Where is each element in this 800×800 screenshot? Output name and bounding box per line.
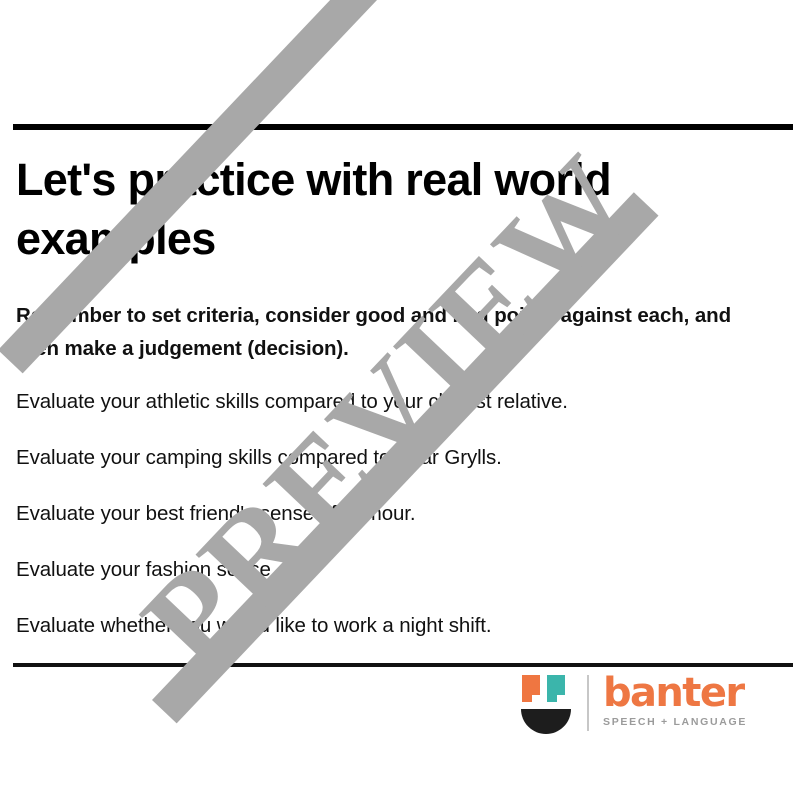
list-item: Evaluate your camping skills compared to… bbox=[16, 444, 776, 471]
footer-rule bbox=[13, 663, 793, 667]
list-item: Evaluate your best friend's sense of hum… bbox=[16, 500, 776, 527]
quote-mark-orange-icon bbox=[522, 675, 540, 702]
page-title: Let's practice with real world examples bbox=[16, 150, 716, 268]
logo-wordmark: banter bbox=[603, 673, 747, 713]
smile-bowl-icon bbox=[521, 709, 571, 734]
worksheet-sheet: Let's practice with real world examples … bbox=[0, 0, 800, 800]
list-item: Evaluate whether you would like to work … bbox=[16, 612, 776, 639]
quote-stem bbox=[547, 675, 565, 695]
quote-tail bbox=[547, 694, 557, 702]
list-item: Evaluate your athletic skills compared t… bbox=[16, 388, 776, 415]
logo-divider bbox=[587, 675, 589, 731]
list-item: Evaluate your fashion sense. bbox=[16, 556, 776, 583]
quote-stem bbox=[522, 675, 540, 695]
banter-logo: banter SPEECH + LANGUAGE bbox=[519, 673, 759, 743]
header-rule bbox=[13, 124, 793, 130]
quote-mark-teal-icon bbox=[547, 675, 565, 702]
instructions-paragraph: Remember to set criteria, consider good … bbox=[16, 299, 776, 365]
quote-tail bbox=[522, 694, 532, 702]
worksheet-page: Let's practice with real world examples … bbox=[0, 0, 800, 800]
logo-text-block: banter SPEECH + LANGUAGE bbox=[603, 673, 747, 728]
logo-tagline: SPEECH + LANGUAGE bbox=[603, 716, 747, 728]
quotation-smile-icon bbox=[519, 673, 575, 737]
practice-item-list: Evaluate your athletic skills compared t… bbox=[16, 388, 776, 668]
